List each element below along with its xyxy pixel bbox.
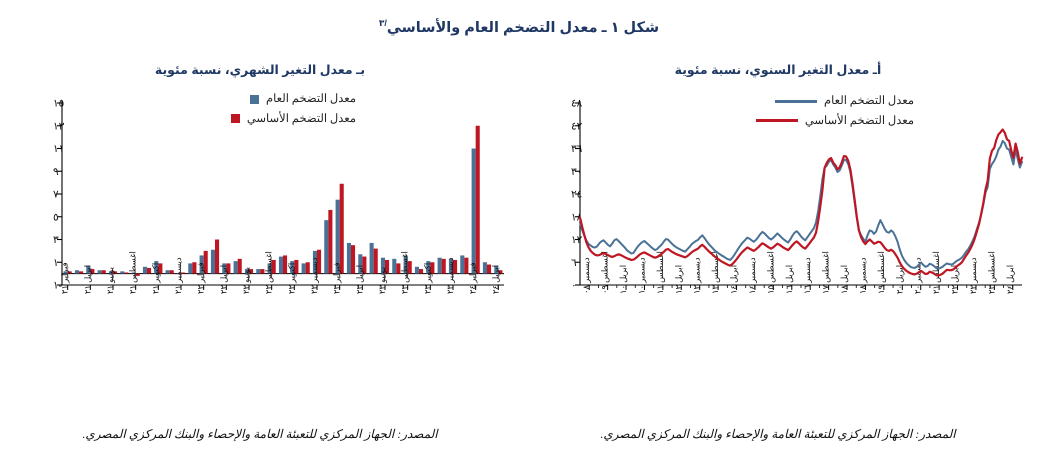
x-tick-label: ابريل ١٢ <box>674 265 683 294</box>
x-tick-label: اغسطس ١٩ <box>877 251 886 294</box>
x-tick-label: اكتوبر ٢١ <box>151 263 160 294</box>
panel-annual: أـ معدل التغير السنوي، نسبة مئوية ٠٦١٢١٨… <box>522 62 1034 452</box>
x-tick-label: ديسمبر ٠٨ <box>582 257 591 294</box>
bar-headline <box>256 269 260 274</box>
x-tick-label: ابريل ٢٢ <box>219 265 228 294</box>
series-line-core <box>580 130 1022 276</box>
bar-core <box>476 126 480 274</box>
bar-headline <box>324 220 328 273</box>
y-tick-label: ٢٤ <box>571 190 583 201</box>
bar-headline <box>483 262 487 273</box>
monthly-source-note: المصدر: الجهاز المركزي للتعبئة العامة وا… <box>4 427 516 442</box>
y-tick-label: ٤٢ <box>571 121 583 132</box>
x-tick-label: اغسطس ٢٢ <box>265 251 274 294</box>
y-tick-label: ٥ <box>53 212 59 223</box>
y-tick-label: ١١ <box>53 144 64 155</box>
figure-title-superscript: /٣ <box>379 18 387 28</box>
x-tick-label: ديسمبر ١٠ <box>637 257 646 294</box>
x-tick-label: اكتوبر ٢٢ <box>287 263 296 294</box>
annual-source-text: المصدر: الجهاز المركزي للتعبئة العامة وا… <box>600 427 955 441</box>
monthly-source-text: المصدر: الجهاز المركزي للتعبئة العامة وا… <box>82 427 437 441</box>
y-tick-label: ٦ <box>571 258 577 269</box>
x-tick-label: اغسطس ٢٣ <box>987 251 996 294</box>
bar-headline <box>370 243 374 274</box>
x-tick-label: ابريل ١٦ <box>785 265 794 294</box>
bar-headline <box>234 261 238 274</box>
bar-headline <box>143 267 147 274</box>
x-tick-label: فبراير ٢١ <box>61 262 70 294</box>
x-tick-label: اغسطس ١٧ <box>822 251 831 294</box>
x-tick-label: ديسمبر ١٤ <box>748 257 757 294</box>
bar-headline <box>75 270 79 273</box>
y-tick-label: ٠ <box>571 281 577 292</box>
x-tick-label: ابريل ٢١ <box>83 265 92 294</box>
y-tick-label: ١٢ <box>571 235 583 246</box>
bar-headline <box>347 243 351 274</box>
y-tick-label: ٣ <box>53 235 59 246</box>
y-tick-label: ١٣ <box>53 121 65 132</box>
x-tick-label: ديسمبر ٢٣ <box>446 257 455 294</box>
y-tick-label: ٣٠ <box>571 167 582 178</box>
x-tick-label: ديسمبر ١٦ <box>803 257 812 294</box>
annual-source-note: المصدر: الجهاز المركزي للتعبئة العامة وا… <box>522 427 1034 442</box>
figure-title-text: شكل ١ ـ معدل التضخم العام والأساسي <box>387 20 659 36</box>
x-tick-label: فبراير ٢٤ <box>469 262 478 294</box>
x-tick-label: ابريل ٢٠ <box>895 265 904 294</box>
panel-annual-title: أـ معدل التغير السنوي، نسبة مئوية <box>522 62 1034 77</box>
x-tick-label: ابريل ٢٤ <box>491 265 500 294</box>
x-tick-label: يونيو ٢٢ <box>242 267 251 294</box>
bar-headline <box>188 263 192 273</box>
bar-headline <box>438 258 442 274</box>
y-tick-label: ٧ <box>53 190 59 201</box>
monthly-plot-area: -١١٣٥٧٩١١١٣١٥فبراير ٢١ابريل ٢١يونيو ٢١اغ… <box>4 89 516 344</box>
panel-monthly-title: بـ معدل التغير الشهري، نسبة مئوية <box>4 62 516 77</box>
y-tick-label: ١ <box>53 258 59 269</box>
x-tick-label: اغسطس ١٥ <box>766 251 775 294</box>
y-tick-label: ٤٨ <box>571 99 583 110</box>
bar-headline <box>279 257 283 274</box>
x-tick-label: ديسمبر ٢١ <box>174 257 183 294</box>
x-tick-label: اكتوبر ٢٣ <box>423 263 432 294</box>
panel-monthly: بـ معدل التغير الشهري، نسبة مئوية -١١٣٥٧… <box>4 62 516 452</box>
x-tick-label: ابريل ٢٣ <box>355 265 364 294</box>
y-tick-label: ١٥ <box>53 99 65 110</box>
x-tick-label: ابريل ١٤ <box>730 265 739 294</box>
annual-plot-area: ٠٦١٢١٨٢٤٣٠٣٦٤٢٤٨ديسمبر ٠٨اغسطس ٠٩ابريل ١… <box>522 89 1034 344</box>
x-tick-label: يونيو ٢٣ <box>378 267 387 294</box>
x-tick-label: ديسمبر ١٨ <box>858 257 867 294</box>
series-line-headline <box>580 141 1022 269</box>
x-tick-label: ابريل ١٠ <box>619 265 628 294</box>
y-tick-label: ٩ <box>53 167 59 178</box>
x-tick-label: ديسمبر ١٢ <box>693 257 702 294</box>
bar-headline <box>415 267 419 274</box>
bar-core <box>340 184 344 274</box>
page-title: شكل ١ ـ معدل التضخم العام والأساسي/٣ <box>0 18 1038 36</box>
x-tick-label: فبراير ٢٢ <box>197 262 206 294</box>
bar-headline <box>460 255 464 273</box>
x-tick-label: اغسطس ٠٩ <box>601 251 610 294</box>
bar-headline <box>120 271 124 273</box>
bar-headline <box>98 270 102 273</box>
x-tick-label: ديسمبر ٢٢ <box>969 257 978 294</box>
x-tick-label: اغسطس ٢٣ <box>401 251 410 294</box>
bar-headline <box>211 250 215 274</box>
y-tick-label: ٣٦ <box>571 144 583 155</box>
bar-headline <box>302 263 306 273</box>
bar-headline <box>392 259 396 274</box>
x-tick-label: فبراير ٢٣ <box>333 262 342 294</box>
x-tick-label: يونيو ٢١ <box>106 267 115 294</box>
x-tick-label: اغسطس ٢١ <box>129 251 138 294</box>
monthly-bar-chart: -١١٣٥٧٩١١١٣١٥فبراير ٢١ابريل ٢١يونيو ٢١اغ… <box>4 89 516 344</box>
x-tick-label: ديسمبر ٢٢ <box>310 257 319 294</box>
x-tick-label: ابريل ٢٤ <box>1006 265 1015 294</box>
bar-headline <box>472 149 476 274</box>
x-tick-label: ابريل ١٨ <box>840 265 849 294</box>
annual-line-chart: ٠٦١٢١٨٢٤٣٠٣٦٤٢٤٨ديسمبر ٠٨اغسطس ٠٩ابريل ١… <box>522 89 1034 344</box>
bar-headline <box>166 270 170 273</box>
